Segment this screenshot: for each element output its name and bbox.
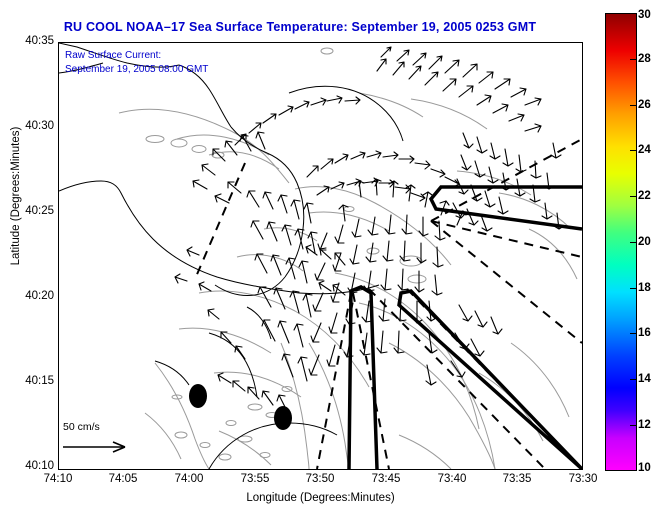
figure-title: RU COOL NOAA–17 Sea Surface Temperature:… <box>0 20 600 34</box>
colorbar-tick-label: 24 <box>638 144 651 156</box>
scale-bar-legend: 50 cm/s <box>59 421 167 467</box>
colorbar-tick-label: 30 <box>638 9 651 21</box>
right-arrow-icon <box>59 437 159 457</box>
x-tick: 73:40 <box>422 473 482 485</box>
colorbar-tick-label: 20 <box>638 236 651 248</box>
colorbar-tick <box>630 470 637 471</box>
annotation-block: Raw Surface Current: September 19, 2005 … <box>65 49 208 77</box>
colorbar-tick <box>630 13 637 14</box>
colorbar-tick-label: 10 <box>638 462 651 474</box>
scale-bar-label: 50 cm/s <box>63 421 100 433</box>
colorbar-tick-label: 26 <box>638 99 651 111</box>
colorbar-tick-label: 18 <box>638 282 651 294</box>
x-tick: 74:10 <box>28 473 88 485</box>
x-axis-label: Longitude (Degrees:Minutes) <box>58 492 583 504</box>
y-tick: 40:15 <box>2 375 54 387</box>
colorbar-tick <box>630 150 637 151</box>
surface-current-vectors <box>175 47 564 411</box>
y-axis-label: Latitude (Degrees:Minutes) <box>10 116 22 276</box>
x-tick: 73:45 <box>356 473 416 485</box>
y-tick: 40:10 <box>2 460 54 472</box>
colorbar-tick <box>630 425 637 426</box>
colorbar-tick <box>630 379 637 380</box>
map-canvas <box>59 43 582 469</box>
colorbar-tick-label: 28 <box>638 53 651 65</box>
annotation-line-2: September 19, 2005 08:00 GMT <box>65 63 208 77</box>
x-tick: 73:55 <box>225 473 285 485</box>
x-tick: 73:30 <box>553 473 613 485</box>
annotation-line-1: Raw Surface Current: <box>65 49 208 63</box>
station-marker-east <box>274 406 292 430</box>
colorbar-tick <box>630 242 637 243</box>
y-tick: 40:35 <box>2 35 54 47</box>
map-plot-area: Raw Surface Current: September 19, 2005 … <box>58 42 583 470</box>
x-tick: 74:00 <box>159 473 219 485</box>
x-axis-ticks: 74:10 74:05 74:00 73:55 73:50 73:45 73:4… <box>58 471 583 491</box>
colorbar-tick <box>630 105 637 106</box>
colorbar-tick-label: 22 <box>638 190 651 202</box>
colorbar-tick-label: 14 <box>638 373 651 385</box>
colorbar-tick-label: 16 <box>638 327 651 339</box>
x-tick: 73:50 <box>290 473 350 485</box>
station-marker-west <box>189 384 207 408</box>
colorbar-tick <box>630 196 637 197</box>
x-tick: 74:05 <box>93 473 153 485</box>
colorbar-tick-label: 12 <box>638 419 651 431</box>
x-tick: 73:35 <box>487 473 547 485</box>
y-axis-ticks: 40:35 40:30 40:25 40:20 40:15 40:10 <box>0 42 54 470</box>
station-markers <box>189 384 292 430</box>
colorbar-tick <box>630 288 637 289</box>
sst-current-figure: RU COOL NOAA–17 Sea Surface Temperature:… <box>0 0 651 518</box>
y-tick: 40:20 <box>2 290 54 302</box>
colorbar-tick <box>630 59 637 60</box>
colorbar: 30 28 26 24 22 20 18 16 14 12 10 Tempera… <box>605 13 651 471</box>
colorbar-tick <box>630 333 637 334</box>
